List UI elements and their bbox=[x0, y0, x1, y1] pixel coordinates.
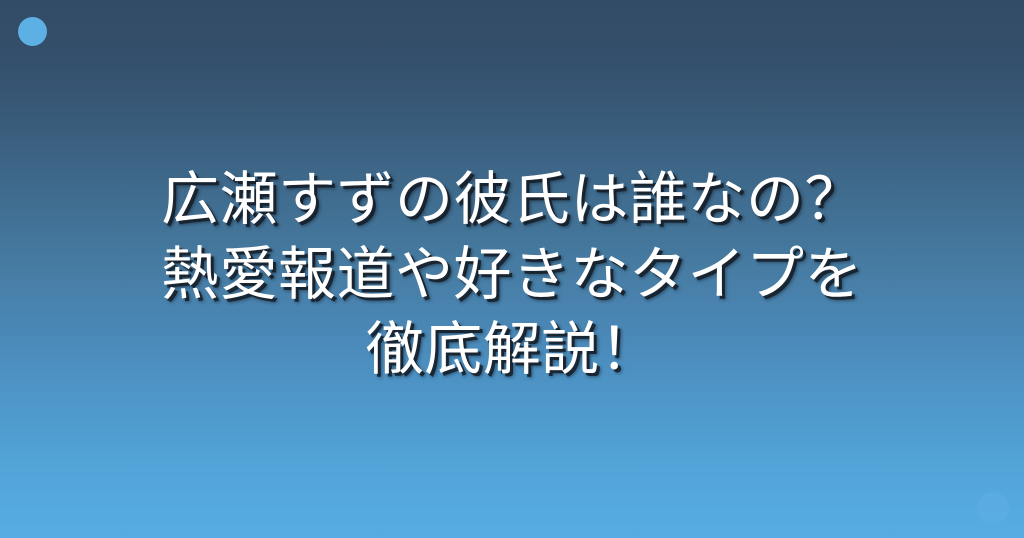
title-card: 広瀬すずの彼氏は誰なの？ 熱愛報道や好きなタイプを 徹底解説！ bbox=[0, 0, 1024, 538]
bubble-decoration-icon bbox=[977, 492, 1009, 524]
title-line-2: 熱愛報道や好きなタイプを bbox=[0, 237, 1024, 312]
title-line-3: 徹底解説！ bbox=[0, 312, 1024, 387]
title-line-1: 広瀬すずの彼氏は誰なの？ bbox=[0, 162, 1024, 237]
bubble-decoration-icon bbox=[18, 17, 47, 46]
page-title: 広瀬すずの彼氏は誰なの？ 熱愛報道や好きなタイプを 徹底解説！ bbox=[0, 162, 1024, 387]
